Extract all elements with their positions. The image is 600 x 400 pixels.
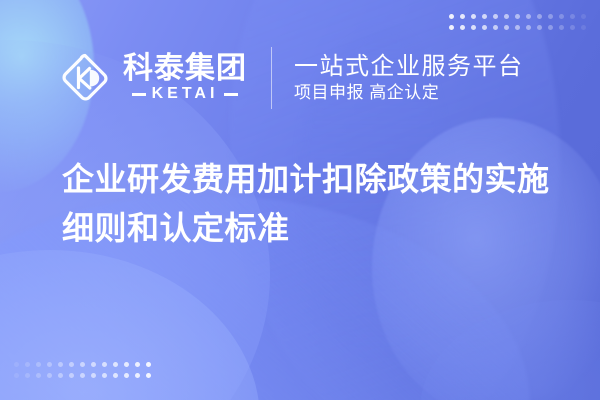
dot — [146, 362, 151, 367]
dot — [91, 373, 96, 378]
dot — [80, 362, 85, 367]
dot — [102, 362, 107, 367]
decor-blob-bottom-left-round — [0, 250, 260, 400]
dot — [548, 14, 553, 19]
dot — [504, 14, 509, 19]
dot — [515, 14, 520, 19]
dot — [135, 373, 140, 378]
decor-blob-bottom-right-fade — [420, 300, 600, 400]
dot — [113, 373, 118, 378]
dot — [58, 373, 63, 378]
tagline-block: 一站式企业服务平台 项目申报 高企认定 — [294, 54, 524, 102]
wordmark-rule-left — [132, 93, 146, 96]
dot-row — [449, 14, 586, 19]
brand-name-en-row: KETAI — [132, 86, 239, 102]
dot — [14, 373, 19, 378]
dot — [36, 362, 41, 367]
dot — [570, 14, 575, 19]
brand-name-cn: 科泰集团 — [123, 54, 247, 84]
dot — [36, 373, 41, 378]
dot — [559, 25, 564, 30]
banner-headline: 企业研发费用加计扣除政策的实施细则和认定标准 — [62, 155, 562, 252]
brand-wordmark: 科泰集团 KETAI — [123, 54, 247, 102]
dot — [69, 362, 74, 367]
dot-grid-icon-bottom-left — [14, 362, 151, 378]
dot — [14, 362, 19, 367]
dot — [471, 14, 476, 19]
dot — [537, 25, 542, 30]
dot — [113, 362, 118, 367]
dot — [58, 362, 63, 367]
dot — [471, 25, 476, 30]
dot — [146, 373, 151, 378]
brand-lockup[interactable]: 科泰集团 KETAI — [58, 51, 247, 105]
dot-row — [14, 373, 151, 378]
dot — [91, 362, 96, 367]
dot-grid-icon-top-right — [449, 14, 586, 30]
dot — [581, 25, 586, 30]
dot — [25, 362, 30, 367]
banner-header: 科泰集团 KETAI 一站式企业服务平台 项目申报 高企认定 — [58, 44, 524, 112]
dot — [482, 14, 487, 19]
dot — [124, 373, 129, 378]
dot-row — [14, 362, 151, 367]
dot — [449, 14, 454, 19]
dot — [581, 14, 586, 19]
dot — [135, 362, 140, 367]
ketai-diamond-monogram-icon — [58, 51, 112, 105]
wordmark-rule-right — [224, 93, 238, 96]
tagline-primary: 一站式企业服务平台 — [294, 54, 524, 79]
tagline-secondary: 项目申报 高企认定 — [294, 84, 524, 102]
dot — [526, 14, 531, 19]
dot — [526, 25, 531, 30]
dot — [548, 25, 553, 30]
dot — [570, 25, 575, 30]
dot — [47, 373, 52, 378]
promo-banner: 科泰集团 KETAI 一站式企业服务平台 项目申报 高企认定 企业研发费用加计扣… — [0, 0, 600, 400]
dot — [504, 25, 509, 30]
dot — [493, 25, 498, 30]
dot — [460, 14, 465, 19]
dot — [460, 25, 465, 30]
dot — [25, 373, 30, 378]
dot — [482, 25, 487, 30]
dot — [80, 373, 85, 378]
dot — [124, 362, 129, 367]
dot — [69, 373, 74, 378]
dot — [559, 14, 564, 19]
dot — [47, 362, 52, 367]
dot — [537, 14, 542, 19]
header-divider — [271, 47, 272, 109]
dot — [515, 25, 520, 30]
brand-name-en: KETAI — [152, 86, 219, 102]
dot — [493, 14, 498, 19]
dot-row — [449, 25, 586, 30]
dot — [449, 25, 454, 30]
dot — [102, 373, 107, 378]
